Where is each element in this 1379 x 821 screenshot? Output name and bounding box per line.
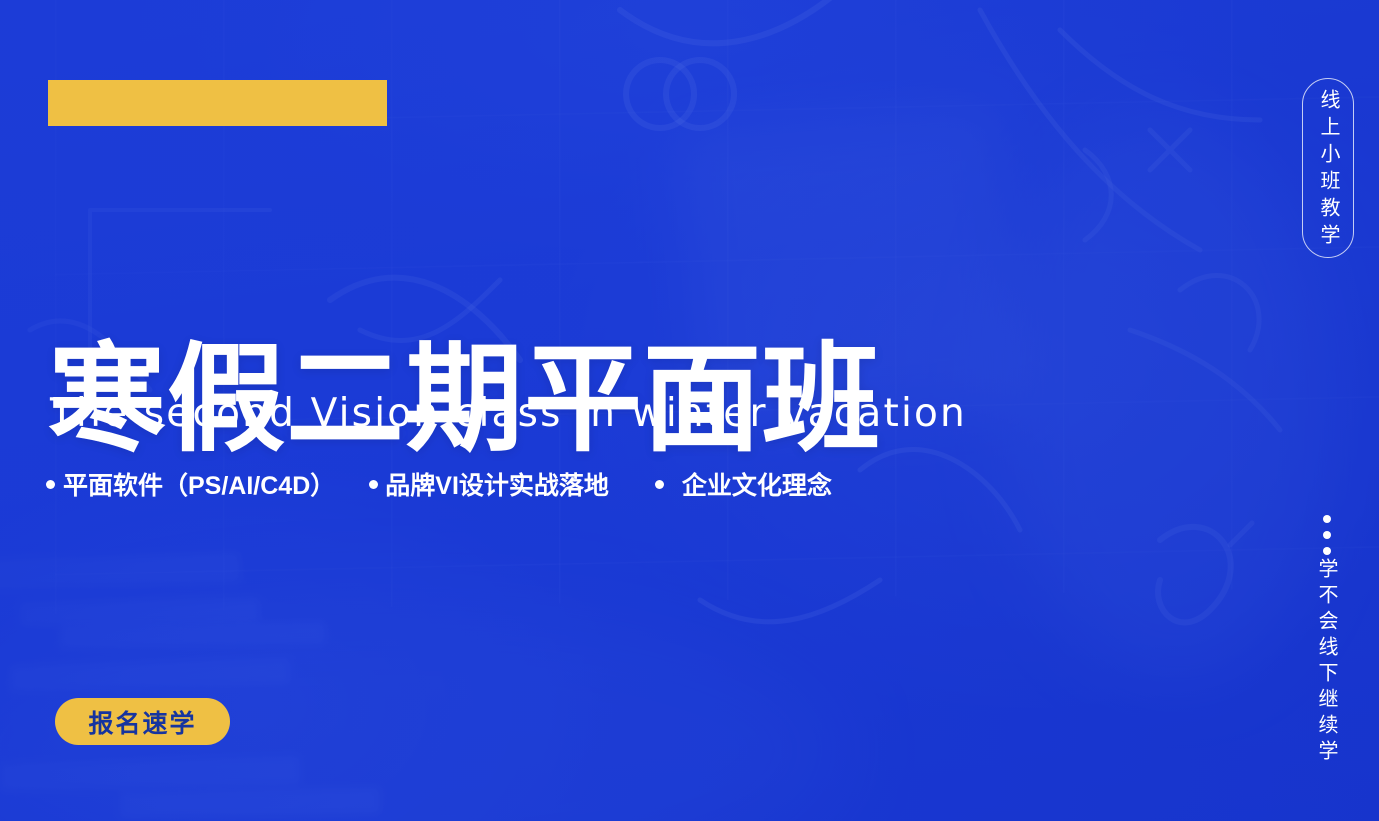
bullet-dot-icon	[369, 480, 378, 489]
top-accent-bar	[48, 80, 387, 126]
enroll-button[interactable]: 报名速学	[55, 698, 230, 745]
dot-icon	[1323, 515, 1331, 523]
bullet-dot-icon	[46, 480, 55, 489]
badge-label: 线上小班教学	[1318, 85, 1338, 251]
dot-icon	[1323, 531, 1331, 539]
feature-item-culture: 企业文化理念	[655, 466, 832, 502]
banner-content: 寒假二期平面班 The second Vision class in winte…	[0, 0, 1379, 821]
feature-list: 平面软件（PS/AI/C4D） 品牌VI设计实战落地 企业文化理念	[46, 466, 832, 502]
feature-item-software: 平面软件（PS/AI/C4D）	[46, 466, 335, 502]
banner-canvas: 寒假二期平面班 The second Vision class in winte…	[0, 0, 1379, 821]
feature-item-brand-vi: 品牌VI设计实战落地	[369, 466, 609, 502]
feature-label: 企业文化理念	[682, 466, 832, 502]
page-subtitle: The second Vision class in winter vacati…	[50, 394, 967, 433]
decorative-dots	[1323, 515, 1331, 555]
bullet-dot-icon	[655, 480, 664, 489]
feature-label: 平面软件（PS/AI/C4D）	[63, 466, 335, 502]
dot-icon	[1323, 547, 1331, 555]
guarantee-vertical-label: 学不会线下继续学	[1316, 558, 1336, 766]
feature-label: 品牌VI设计实战落地	[385, 466, 609, 502]
online-small-class-badge: 线上小班教学	[1302, 78, 1354, 258]
